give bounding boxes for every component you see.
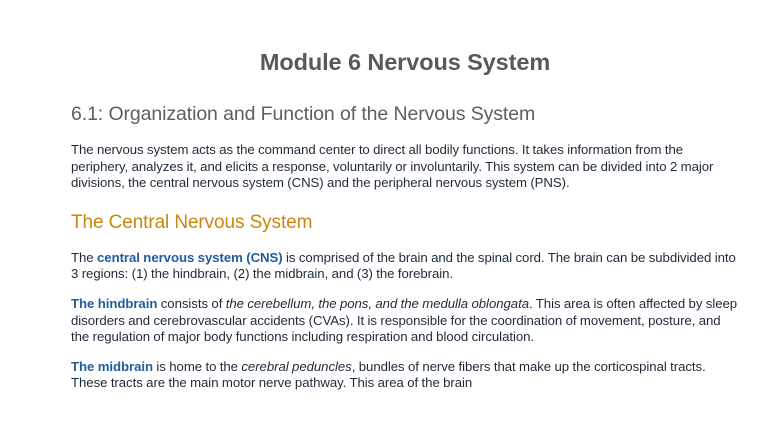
paragraph-hindbrain: The hindbrain consists of the cerebellum… (71, 283, 739, 346)
paragraph-cns: The central nervous system (CNS) is comp… (71, 235, 739, 283)
paragraph-midbrain: The midbrain is home to the cerebral ped… (71, 346, 739, 392)
section-heading-6-1: 6.1: Organization and Function of the Ne… (71, 77, 739, 127)
document-content: Module 6 Nervous System 6.1: Organizatio… (71, 0, 739, 392)
paragraph-cns-lead: The (71, 250, 97, 265)
term-midbrain: The midbrain (71, 359, 153, 374)
subsection-heading-central-nervous-system: The Central Nervous System (71, 192, 739, 235)
document-page: Module 6 Nervous System 6.1: Organizatio… (0, 0, 784, 441)
term-hindbrain: The hindbrain (71, 296, 157, 311)
paragraph-intro: The nervous system acts as the command c… (71, 127, 739, 192)
paragraph-midbrain-mid: is home to the (153, 359, 241, 374)
italic-cerebellum-pons-medulla: the cerebellum, the pons, and the medull… (226, 296, 529, 311)
paragraph-hindbrain-mid: consists of (157, 296, 225, 311)
italic-cerebral-peduncles: cerebral peduncles (241, 359, 351, 374)
term-central-nervous-system: central nervous system (CNS) (97, 250, 283, 265)
page-title: Module 6 Nervous System (71, 0, 739, 77)
